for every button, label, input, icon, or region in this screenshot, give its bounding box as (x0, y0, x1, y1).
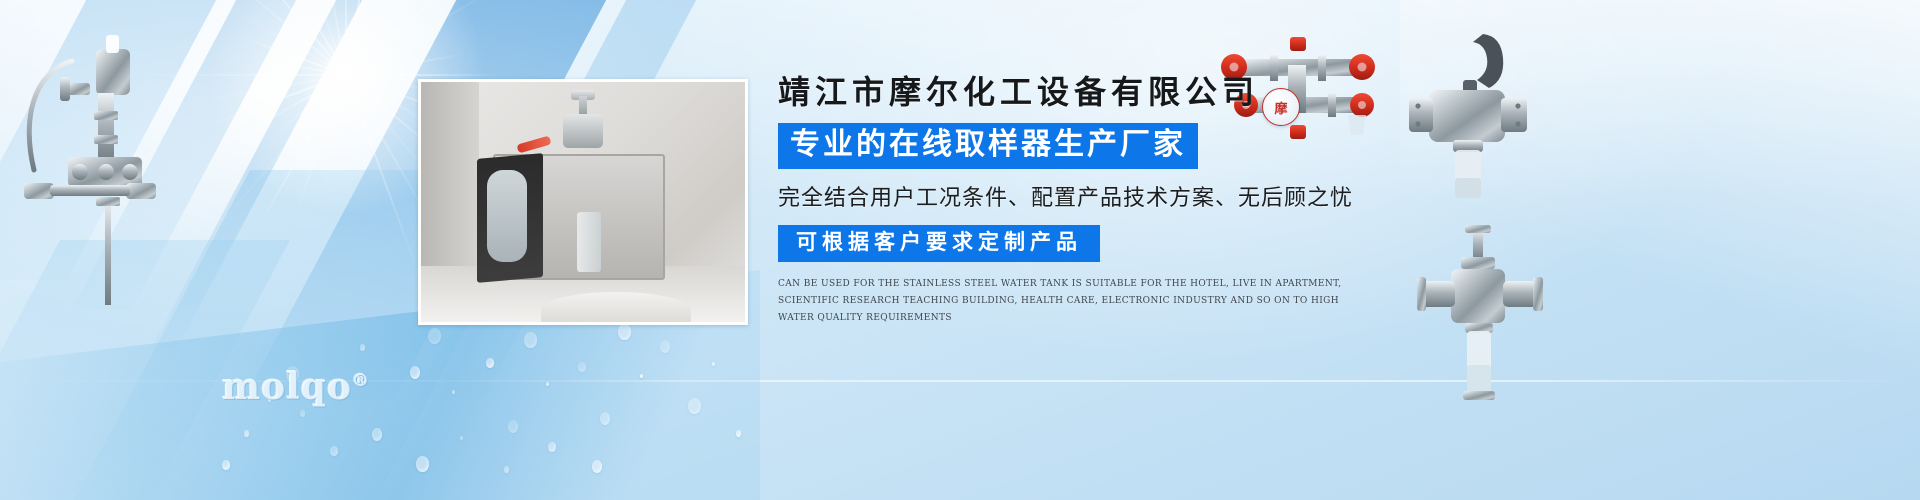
water-droplet (486, 358, 494, 368)
water-droplet (546, 382, 549, 386)
water-droplet (712, 362, 715, 366)
registered-mark-icon: ® (352, 371, 370, 391)
product-photo (418, 79, 748, 325)
water-droplet (504, 466, 509, 473)
water-droplet (600, 412, 610, 425)
slogan-custom-highlight: 可根据客户要求定制产品 (778, 225, 1100, 262)
equipment-bottom-right-image (1415, 225, 1545, 410)
water-droplet (372, 428, 382, 441)
promo-banner: 摩 靖江市摩尔化 (0, 0, 1920, 500)
sunburst-ray (346, 74, 497, 76)
water-droplet (592, 460, 602, 473)
water-droplet (688, 398, 701, 414)
water-droplet (548, 442, 556, 452)
water-droplet (410, 366, 420, 379)
brand-watermark: molqo® (222, 366, 370, 408)
water-droplet (360, 344, 365, 351)
water-droplet (660, 340, 670, 353)
water-droplet (736, 430, 741, 437)
water-droplet (618, 324, 631, 340)
water-droplet (640, 374, 643, 378)
slogan-main-highlight: 专业的在线取样器生产厂家 (778, 123, 1198, 169)
english-description: Can be used for the stainless steel wate… (778, 276, 1378, 326)
water-droplet (460, 436, 463, 440)
water-droplet (428, 328, 441, 344)
water-droplet (222, 460, 230, 470)
sunburst-ray (139, 74, 346, 76)
water-droplet (416, 456, 429, 472)
water-droplet (330, 446, 338, 456)
company-name: 靖江市摩尔化工设备有限公司 (778, 72, 1418, 112)
water-droplet (300, 410, 305, 417)
water-droplet (508, 420, 518, 433)
equipment-left-image (10, 25, 170, 310)
water-droplet (244, 430, 249, 437)
watermark-text: molqo (222, 366, 352, 408)
banner-text-block: 靖江市摩尔化工设备有限公司 专业的在线取样器生产厂家 完全结合用户工况条件、配置… (778, 72, 1418, 326)
equipment-top-right-2-image (1405, 28, 1535, 213)
water-droplet (578, 362, 586, 372)
slogan-sub: 完全结合用户工况条件、配置产品技术方案、无后顾之忧 (778, 180, 1418, 212)
water-droplet (452, 390, 455, 394)
water-droplet (524, 332, 537, 348)
